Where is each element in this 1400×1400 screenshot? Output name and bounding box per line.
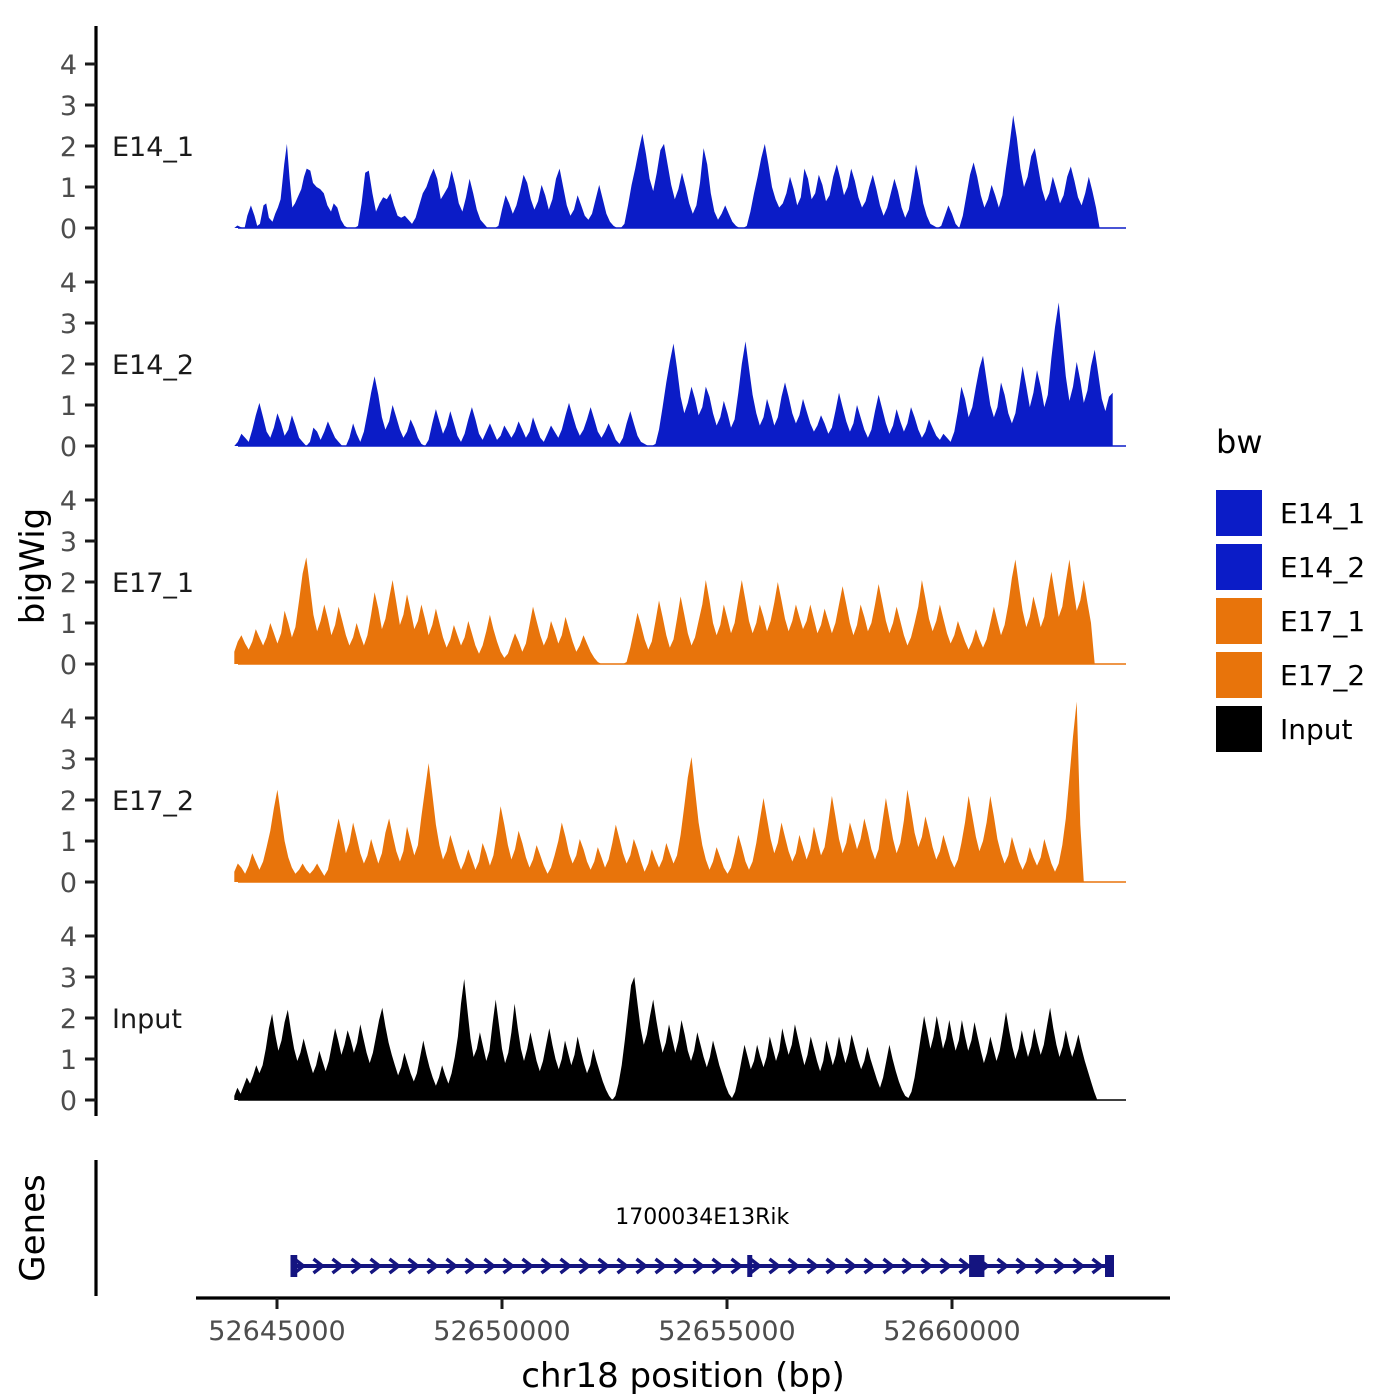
gene-exon-block	[969, 1255, 984, 1277]
figure-root: 01234E14_101234E14_201234E17_101234E17_2…	[0, 0, 1400, 1400]
y-tick-label: 1	[60, 391, 77, 422]
y-tick-label: 0	[60, 432, 77, 463]
y-tick-label: 1	[60, 827, 77, 858]
track-panel-input: 01234Input	[60, 898, 1126, 1117]
x-axis-title: chr18 position (bp)	[521, 1356, 844, 1396]
track-panel-e17_1: 01234E17_1	[60, 462, 1126, 681]
x-tick-label: 52660000	[883, 1316, 1020, 1347]
y-tick-label: 4	[60, 50, 77, 81]
bigwig-genome-browser-figure: 01234E14_101234E14_201234E17_101234E17_2…	[0, 0, 1400, 1400]
x-tick-label: 52645000	[208, 1316, 345, 1347]
legend-label-e17_2: E17_2	[1280, 659, 1365, 692]
x-axis: 52645000526500005265500052660000chr18 po…	[196, 1298, 1170, 1396]
gene-name-label: 1700034E13Rik	[615, 1205, 789, 1230]
x-tick-label: 52655000	[658, 1316, 795, 1347]
legend-swatch-e17_1[interactable]	[1216, 598, 1262, 644]
signal-area-e17_2	[234, 702, 1084, 882]
y-tick-label: 3	[60, 91, 77, 122]
y-tick-label: 2	[60, 568, 77, 599]
signal-area-input	[234, 977, 1097, 1100]
y-tick-label: 1	[60, 609, 77, 640]
track-panel-e14_2: 01234E14_2	[60, 244, 1126, 463]
y-tick-label: 0	[60, 1086, 77, 1117]
y-tick-label: 2	[60, 786, 77, 817]
y-tick-label: 3	[60, 309, 77, 340]
y-axis-title: bigWig	[13, 508, 53, 625]
y-tick-label: 4	[60, 922, 77, 953]
panel-label-e17_1: E17_1	[112, 568, 194, 599]
legend-title: bw	[1216, 423, 1262, 461]
y-tick-label: 0	[60, 650, 77, 681]
legend-label-e17_1: E17_1	[1280, 605, 1365, 638]
panel-label-e14_1: E14_1	[112, 132, 194, 163]
panel-label-e14_2: E14_2	[112, 350, 194, 381]
panel-label-input: Input	[112, 1004, 182, 1035]
y-tick-label: 3	[60, 963, 77, 994]
y-tick-label: 4	[60, 268, 77, 299]
y-tick-label: 0	[60, 868, 77, 899]
y-tick-label: 1	[60, 173, 77, 204]
track-panel-e17_2: 01234E17_2	[60, 680, 1126, 899]
y-tick-label: 2	[60, 132, 77, 163]
signal-area-e14_1	[234, 115, 1099, 228]
y-tick-label: 4	[60, 704, 77, 735]
x-tick-label: 52650000	[433, 1316, 570, 1347]
gene-exon-block	[1105, 1255, 1114, 1277]
y-tick-label: 1	[60, 1045, 77, 1076]
legend-label-input: Input	[1280, 713, 1353, 746]
y-tick-label: 2	[60, 350, 77, 381]
genes-axis-title: Genes	[13, 1174, 53, 1281]
legend-swatch-input[interactable]	[1216, 706, 1262, 752]
track-panel-e14_1: 01234E14_1	[60, 26, 1126, 245]
signal-area-e17_1	[234, 557, 1094, 664]
y-tick-label: 0	[60, 214, 77, 245]
panel-label-e17_2: E17_2	[112, 786, 194, 817]
legend-label-e14_1: E14_1	[1280, 497, 1365, 530]
signal-area-e14_2	[234, 303, 1112, 447]
y-tick-label: 3	[60, 527, 77, 558]
legend-swatch-e14_1[interactable]	[1216, 490, 1262, 536]
legend: bwE14_1E14_2E17_1E17_2Input	[1216, 423, 1365, 752]
legend-label-e14_2: E14_2	[1280, 551, 1365, 584]
y-tick-label: 3	[60, 745, 77, 776]
legend-swatch-e14_2[interactable]	[1216, 544, 1262, 590]
y-tick-label: 4	[60, 486, 77, 517]
genes-track-panel: 1700034E13Rik	[96, 1160, 1114, 1296]
y-tick-label: 2	[60, 1004, 77, 1035]
legend-swatch-e17_2[interactable]	[1216, 652, 1262, 698]
